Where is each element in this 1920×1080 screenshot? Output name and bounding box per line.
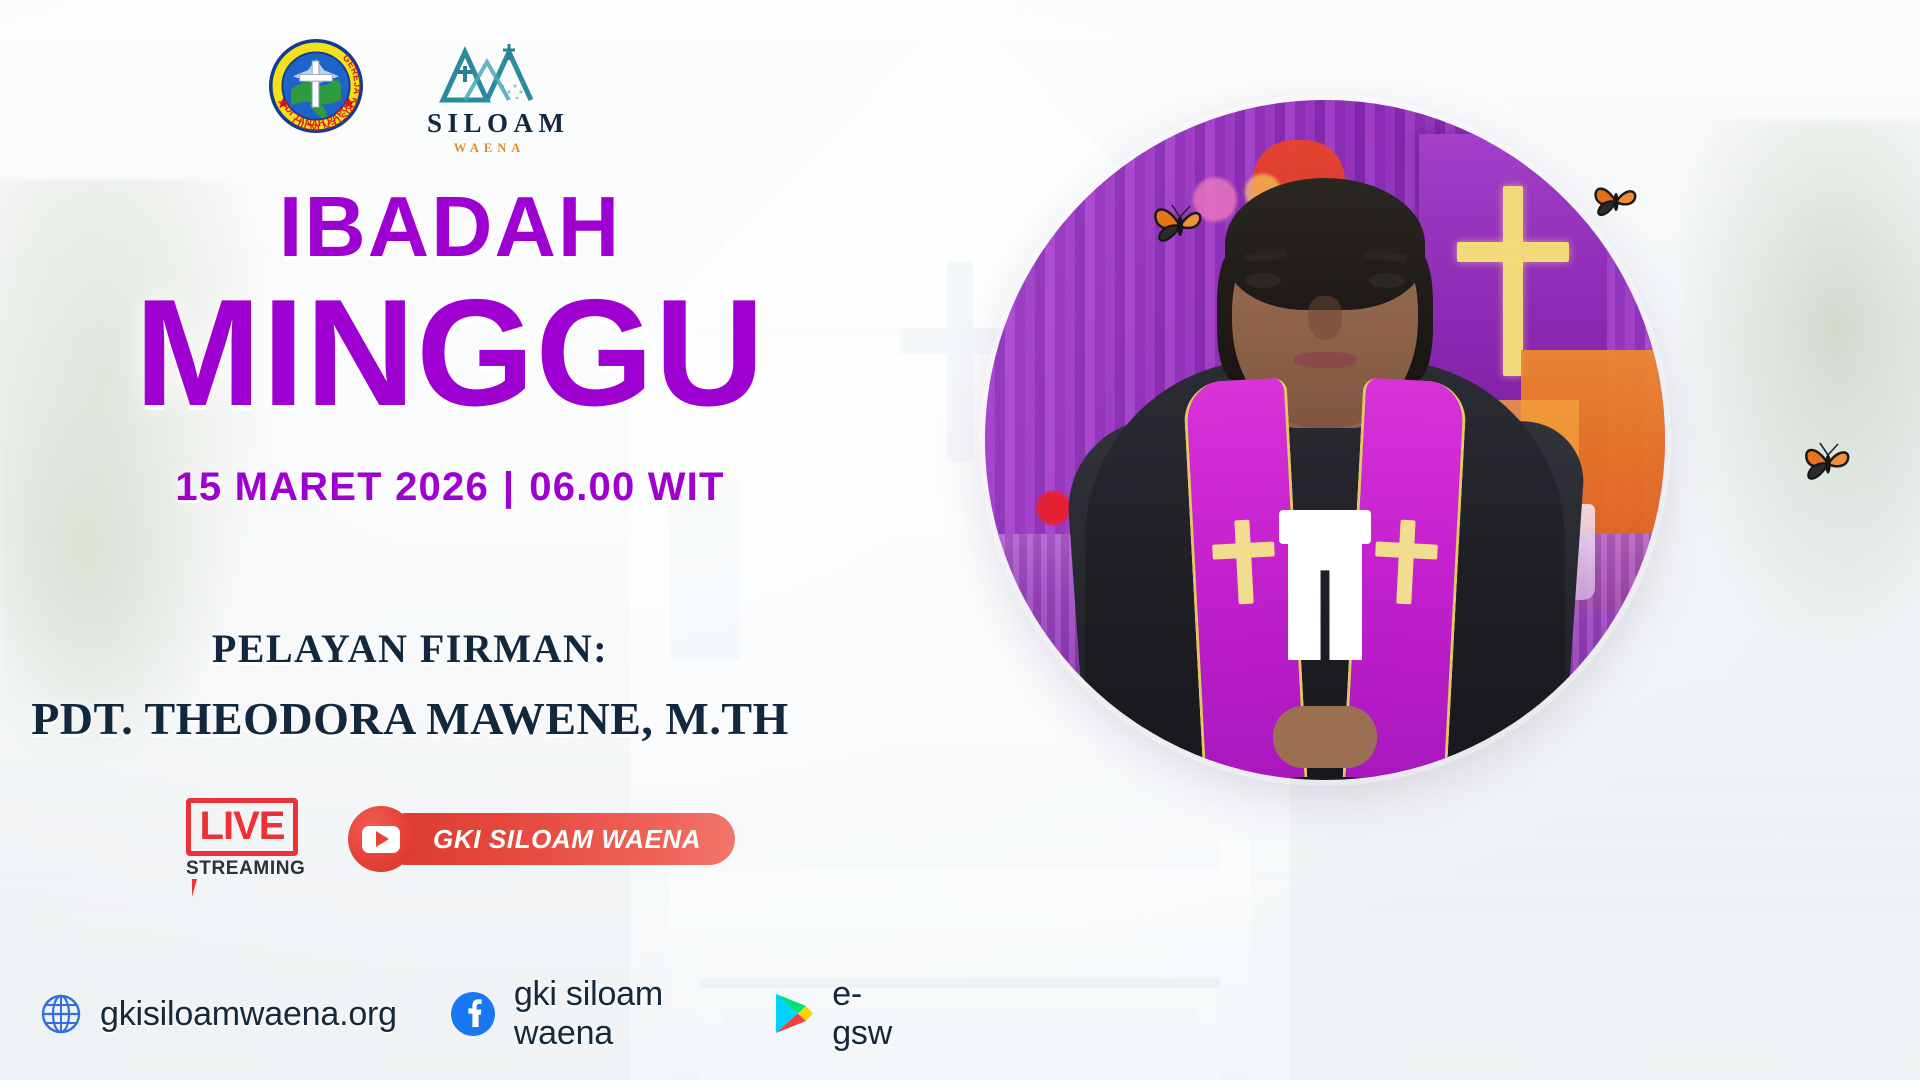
siloam-logo: SILOAM WAENA bbox=[422, 38, 552, 156]
gki-papua-seal-icon: GEREJA KRISTEN INJILI DI TANAH PAPUA bbox=[268, 38, 364, 134]
eye-left bbox=[1245, 273, 1281, 288]
website-label: gkisiloamwaena.org bbox=[100, 995, 397, 1034]
siloam-church-mark-icon bbox=[422, 42, 552, 104]
siloam-location: WAENA bbox=[422, 141, 552, 156]
live-label: LIVE bbox=[200, 806, 285, 846]
preacher-block: PELAYAN FIRMAN: PDT. THEODORA MAWENE, M.… bbox=[0, 625, 820, 745]
stole-cross-vertical bbox=[1234, 520, 1253, 605]
datetime-separator: | bbox=[489, 465, 529, 509]
streaming-row: LIVE STREAMING GKI SILOAM WAENA bbox=[186, 798, 735, 880]
logo-lockup: GEREJA KRISTEN INJILI DI TANAH PAPUA bbox=[268, 38, 552, 156]
youtube-icon-triangle bbox=[376, 831, 389, 847]
youtube-pill-bar: GKI SILOAM WAENA bbox=[381, 813, 735, 865]
butterfly-top-right-icon bbox=[1590, 180, 1644, 224]
mouth bbox=[1294, 352, 1356, 368]
siloam-wordmark: SILOAM bbox=[422, 110, 552, 137]
footer-item-facebook[interactable]: gki siloam waena bbox=[450, 975, 725, 1053]
facebook-icon bbox=[450, 991, 496, 1037]
preacher-label: PELAYAN FIRMAN: bbox=[0, 625, 820, 672]
butterfly-top-left-icon bbox=[1150, 200, 1212, 250]
preacher-name: PDT. THEODORA MAWENE, M.TH bbox=[0, 692, 820, 745]
playstore-label: e-gsw bbox=[832, 975, 900, 1053]
footer-item-website[interactable]: gkisiloamwaena.org bbox=[40, 993, 397, 1035]
service-date: 15 MARET 2026 bbox=[175, 465, 489, 509]
poster-canvas: GEREJA KRISTEN INJILI DI TANAH PAPUA bbox=[0, 0, 1920, 1080]
footer-links: gkisiloamwaena.org gki siloam waena bbox=[40, 975, 900, 1053]
eye-right bbox=[1369, 273, 1405, 288]
headline-minggu: MINGGU bbox=[0, 276, 900, 431]
nose bbox=[1308, 296, 1342, 340]
stole-cross-horizontal bbox=[1212, 541, 1275, 559]
footer-item-playstore[interactable]: e-gsw bbox=[772, 975, 900, 1053]
streaming-label: STREAMING bbox=[186, 858, 298, 880]
live-bubble-tail bbox=[192, 879, 197, 897]
stole-cross-horizontal bbox=[1375, 541, 1438, 559]
poster-content: GEREJA KRISTEN INJILI DI TANAH PAPUA bbox=[0, 0, 900, 1080]
hair bbox=[1225, 178, 1425, 310]
headline-ibadah: IBADAH bbox=[0, 185, 900, 270]
stole-cross-vertical bbox=[1396, 520, 1415, 605]
service-datetime: 15 MARET 2026|06.00 WIT bbox=[0, 465, 900, 510]
youtube-icon-body bbox=[362, 826, 400, 853]
pastor-figure bbox=[1065, 180, 1585, 780]
globe-icon bbox=[40, 993, 82, 1035]
youtube-channel-pill[interactable]: GKI SILOAM WAENA bbox=[348, 809, 735, 869]
live-streaming-badge: LIVE STREAMING bbox=[186, 798, 298, 880]
headline-block: IBADAH MINGGU 15 MARET 2026|06.00 WIT bbox=[0, 185, 900, 510]
service-time: 06.00 WIT bbox=[529, 465, 724, 509]
pastor-portrait bbox=[985, 100, 1665, 780]
youtube-channel-name: GKI SILOAM WAENA bbox=[433, 824, 701, 855]
live-box: LIVE bbox=[186, 798, 298, 856]
facebook-label: gki siloam waena bbox=[514, 975, 725, 1053]
clasped-hands bbox=[1273, 706, 1377, 768]
youtube-play-icon bbox=[348, 806, 414, 872]
butterfly-right-icon bbox=[1800, 440, 1858, 488]
google-play-icon bbox=[772, 991, 814, 1037]
